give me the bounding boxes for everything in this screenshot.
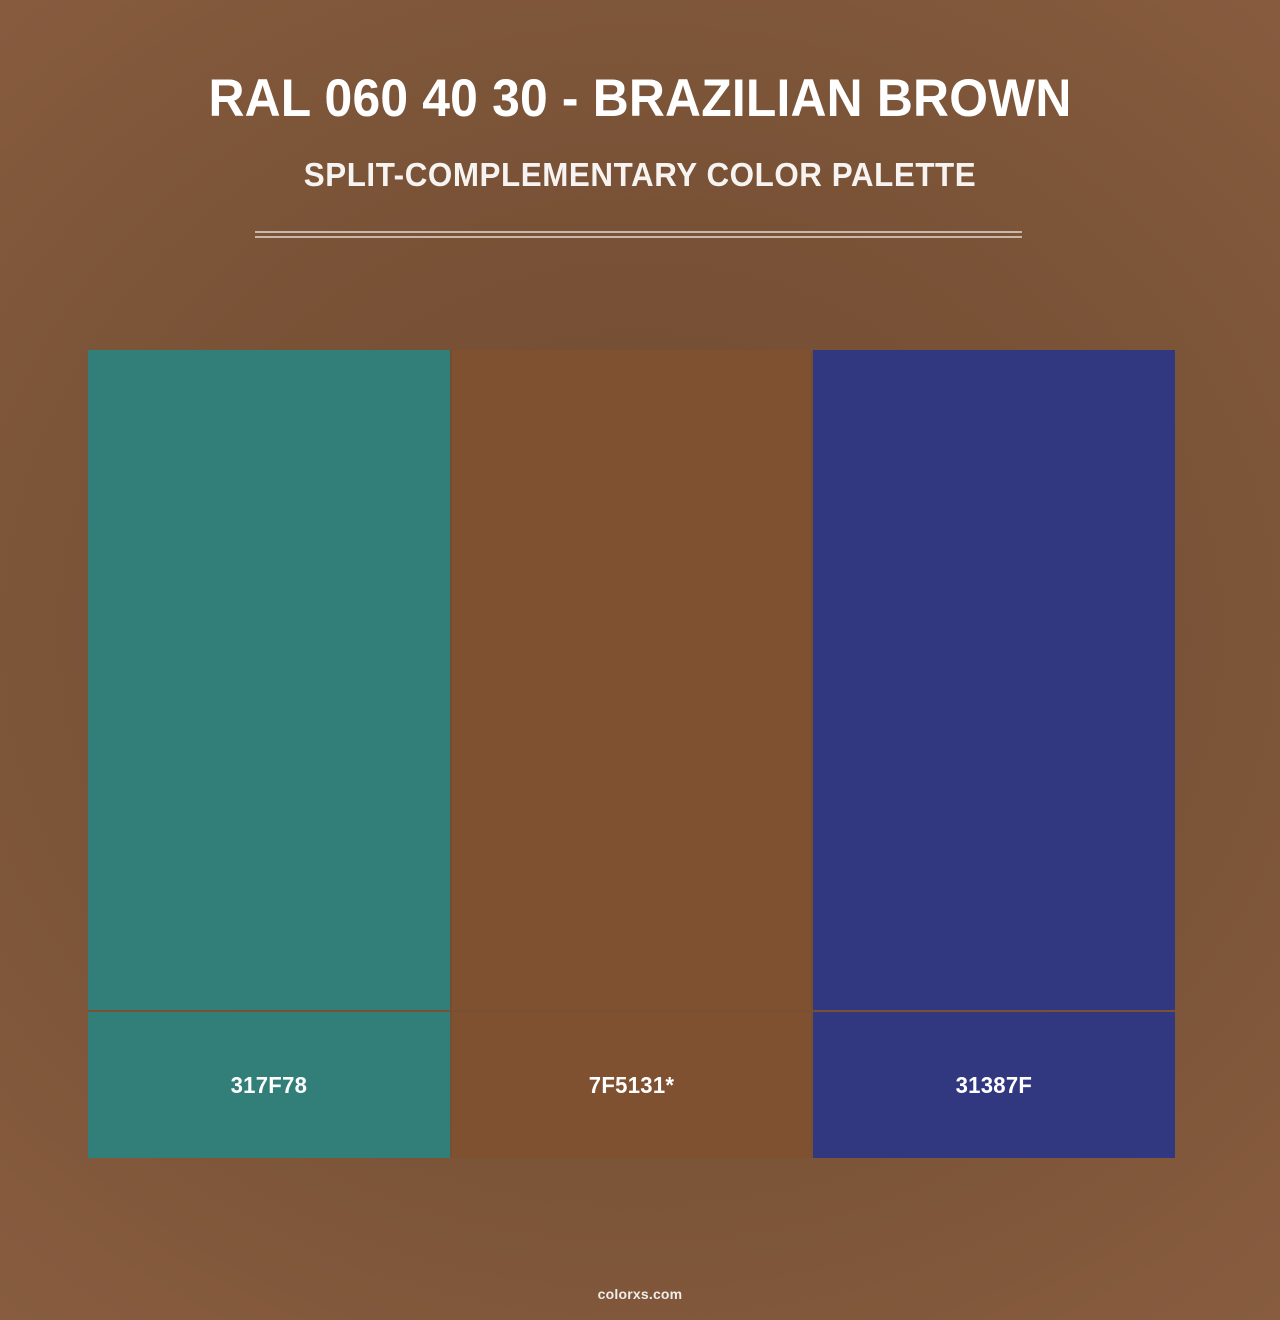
color-swatch[interactable]: 7F5131* — [452, 350, 811, 1158]
divider-rule-bottom — [255, 236, 1022, 238]
color-swatch[interactable]: 31387F — [813, 350, 1175, 1158]
color-swatch[interactable]: 317F78 — [88, 350, 450, 1158]
swatch-hex-label: 31387F — [956, 1072, 1033, 1099]
swatch-hex-label: 317F78 — [231, 1072, 308, 1099]
page-subtitle: SPLIT-COMPLEMENTARY COLOR PALETTE — [32, 125, 1248, 191]
divider-rule-top — [255, 231, 1022, 233]
color-palette: 317F78 7F5131* 31387F — [88, 350, 1175, 1158]
swatch-label-area: 31387F — [813, 1012, 1175, 1158]
page-title: RAL 060 40 30 - BRAZILIAN BROWN — [38, 0, 1241, 125]
swatch-hex-label: 7F5131* — [589, 1072, 675, 1099]
swatch-label-area: 7F5131* — [452, 1012, 811, 1158]
header-divider — [255, 231, 1022, 238]
swatch-color-block — [88, 350, 450, 1010]
footer: colorxs.com — [0, 1286, 1280, 1304]
swatch-color-block — [452, 350, 811, 1010]
palette-page: RAL 060 40 30 - BRAZILIAN BROWN SPLIT-CO… — [0, 0, 1280, 1320]
swatch-color-block — [813, 350, 1175, 1010]
swatch-label-area: 317F78 — [88, 1012, 450, 1158]
footer-site-label: colorxs.com — [598, 1286, 683, 1302]
header: RAL 060 40 30 - BRAZILIAN BROWN SPLIT-CO… — [0, 0, 1280, 191]
